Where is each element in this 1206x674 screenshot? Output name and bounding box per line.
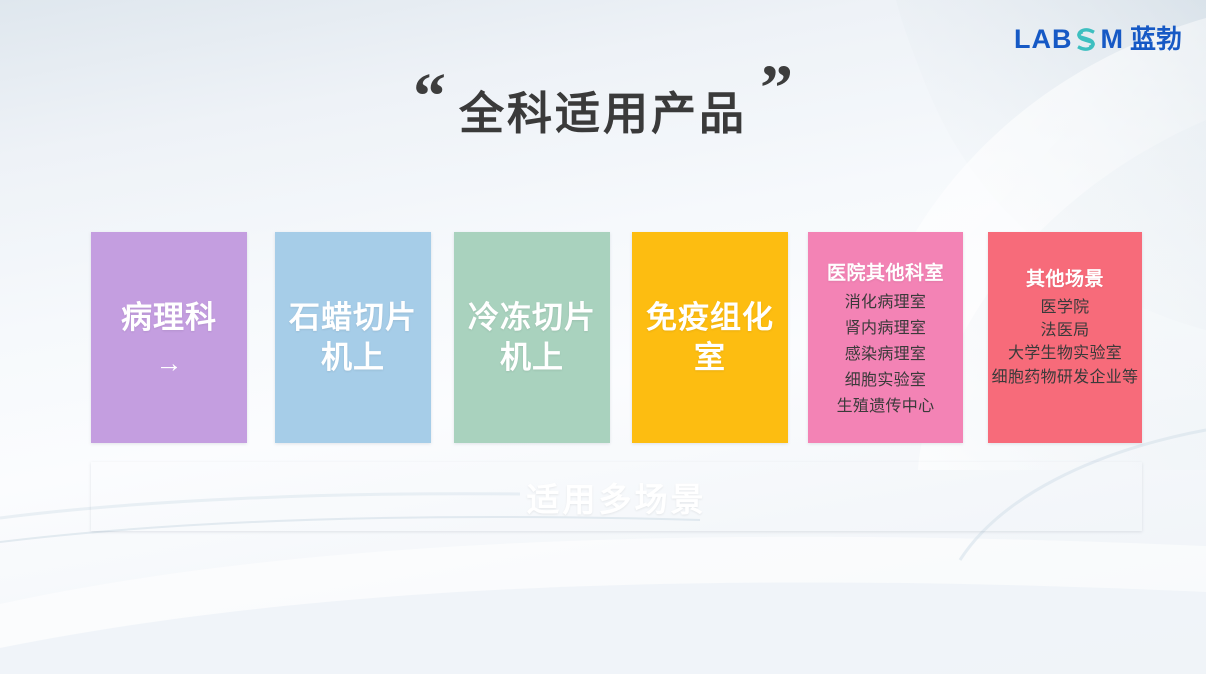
- arrow-right-icon: →: [156, 350, 183, 377]
- card-cryostat-microtome[interactable]: 冷冻切片机上: [454, 232, 610, 443]
- card-pathology-department[interactable]: 病理科→: [91, 232, 247, 443]
- card-list-item: 医学院: [1041, 296, 1090, 319]
- card-list-item: 大学生物实验室: [1008, 342, 1122, 365]
- card-list-item: 消化病理室: [845, 290, 927, 316]
- page-title: 全科适用产品: [459, 62, 747, 141]
- card-list-item: 法医局: [1041, 319, 1090, 342]
- card-list-item: 细胞实验室: [845, 368, 927, 394]
- bottom-banner-label: 适用多场景: [527, 473, 707, 521]
- logo-text-chinese: 蓝勃: [1130, 26, 1182, 52]
- title-block: “ 全科适用产品 ”: [0, 62, 1206, 141]
- s-swirl-mark-icon: [1071, 25, 1101, 54]
- quote-close-icon: ”: [760, 56, 793, 122]
- cards-row: 病理科→石蜡切片机上冷冻切片机上免疫组化室医院其他科室消化病理室肾内病理室感染病…: [91, 232, 1142, 443]
- card-title: 免疫组化室: [632, 298, 788, 377]
- bottom-banner: 适用多场景: [91, 462, 1142, 531]
- logo-text-m: M: [1100, 26, 1124, 53]
- card-other-scenarios[interactable]: 其他场景医学院法医局大学生物实验室细胞药物研发企业等: [988, 232, 1142, 443]
- card-title: 病理科: [121, 298, 217, 338]
- brand-logo: LAB M 蓝勃: [1014, 24, 1182, 54]
- card-paraffin-microtome[interactable]: 石蜡切片机上: [275, 232, 431, 443]
- logo-text-lab: LAB: [1014, 26, 1073, 53]
- card-title: 冷冻切片机上: [454, 298, 610, 377]
- card-heading: 医院其他科室: [827, 258, 944, 285]
- card-list-item: 生殖遗传中心: [837, 394, 935, 420]
- s-swirl-icon-svg: [1071, 25, 1101, 54]
- card-title: 石蜡切片机上: [275, 298, 431, 377]
- card-list-item: 肾内病理室: [845, 316, 927, 342]
- quote-open-icon: “: [413, 64, 446, 130]
- card-list-item: 细胞药物研发企业等: [992, 366, 1139, 389]
- slide-canvas: LAB M 蓝勃 “ 全科适用产品 ” 病理科→石蜡切片机上冷冻切片机上免疫组化…: [0, 0, 1206, 674]
- card-immunohistochemistry-lab[interactable]: 免疫组化室: [632, 232, 788, 443]
- card-other-hospital-departments[interactable]: 医院其他科室消化病理室肾内病理室感染病理室细胞实验室生殖遗传中心: [808, 232, 963, 443]
- card-list-item: 感染病理室: [845, 342, 927, 368]
- card-heading: 其他场景: [1026, 264, 1104, 291]
